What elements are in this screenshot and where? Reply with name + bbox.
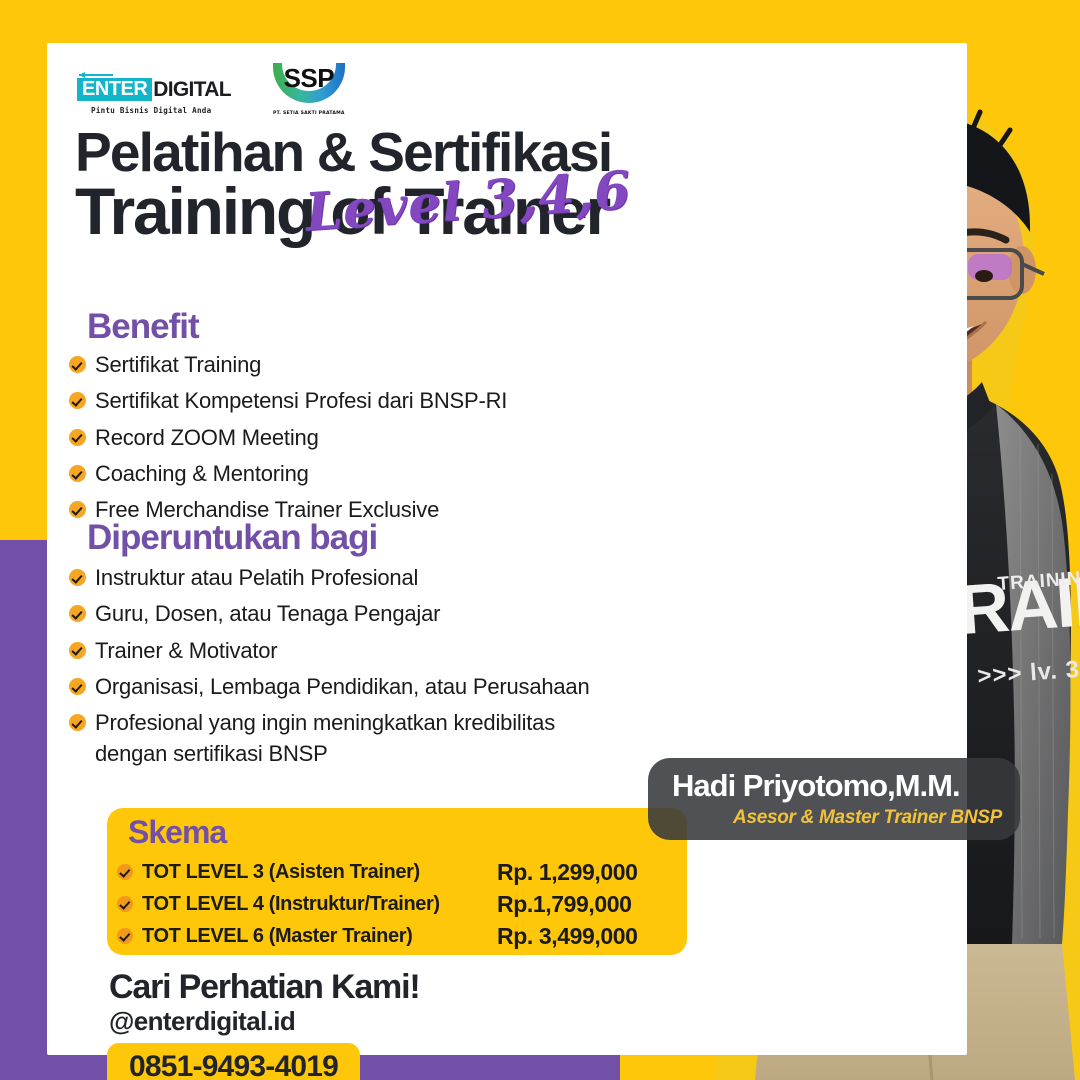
benefit-item-label: Record ZOOM Meeting	[95, 423, 319, 453]
list-item: Trainer & Motivator	[69, 636, 709, 666]
skema-level-price: Rp. 1,299,000	[497, 859, 638, 886]
benefit-item-label: Sertifikat Kompetensi Profesi dari BNSP-…	[95, 386, 507, 416]
check-circle-icon	[69, 501, 86, 518]
list-item: Guru, Dosen, atau Tenaga Pengajar	[69, 599, 709, 629]
skema-level-price: Rp.1,799,000	[497, 891, 632, 918]
poster-root: TRAINER TRAINING O >>> lv. 3 ENTER DIGIT…	[0, 0, 1080, 1080]
enter-text: ENTER	[82, 78, 147, 100]
check-circle-icon	[69, 356, 86, 373]
target-list: Instruktur atau Pelatih Profesional Guru…	[69, 563, 709, 775]
list-item: Sertifikat Training	[69, 350, 709, 380]
check-circle-icon	[69, 642, 86, 659]
skema-level-label: TOT LEVEL 3 (Asisten Trainer)	[142, 861, 497, 884]
digital-text: DIGITAL	[153, 79, 231, 100]
skema-level-price: Rp. 3,499,000	[497, 923, 638, 950]
list-item: Profesional yang ingin meningkatkan kred…	[69, 708, 709, 769]
check-circle-icon	[69, 429, 86, 446]
benefit-list: Sertifikat Training Sertifikat Kompetens…	[69, 350, 709, 532]
speaker-role: Asesor & Master Trainer BNSP	[733, 807, 1002, 829]
check-circle-icon	[69, 569, 86, 586]
target-item-continuation: dengan sertifikasi BNSP	[95, 739, 555, 769]
check-circle-icon	[69, 678, 86, 695]
check-circle-icon	[69, 392, 86, 409]
check-circle-icon	[117, 864, 133, 880]
list-item: Sertifikat Kompetensi Profesi dari BNSP-…	[69, 386, 709, 416]
benefit-heading: Benefit	[87, 307, 199, 347]
table-row: TOT LEVEL 6 (Master Trainer) Rp. 3,499,0…	[117, 920, 682, 952]
table-row: TOT LEVEL 3 (Asisten Trainer) Rp. 1,299,…	[117, 856, 682, 888]
logo-row: ENTER DIGITAL Pintu Bisnis Digital Anda …	[77, 61, 345, 115]
speaker-name: Hadi Priyotomo,M.M.	[672, 768, 960, 804]
phone-button[interactable]: 0851-9493-4019	[107, 1043, 360, 1080]
target-item-label: Profesional yang ingin meningkatkan kred…	[95, 710, 555, 735]
content-card: ENTER DIGITAL Pintu Bisnis Digital Anda …	[47, 43, 967, 1055]
ssp-subtext: PT. SETIA SAKTI PRATAMA	[273, 111, 345, 116]
list-item: Record ZOOM Meeting	[69, 423, 709, 453]
check-circle-icon	[69, 465, 86, 482]
check-circle-icon	[69, 605, 86, 622]
skema-level-label: TOT LEVEL 4 (Instruktur/Trainer)	[142, 893, 497, 916]
left-arrow-icon	[79, 72, 113, 77]
enter-digital-logo: ENTER DIGITAL Pintu Bisnis Digital Anda	[77, 78, 231, 115]
cta-title: Cari Perhatian Kami!	[109, 968, 419, 1007]
check-circle-icon	[117, 928, 133, 944]
instagram-handle[interactable]: @enterdigital.id	[109, 1006, 295, 1037]
target-item-label: Guru, Dosen, atau Tenaga Pengajar	[95, 599, 440, 629]
check-circle-icon	[69, 714, 86, 731]
check-circle-icon	[117, 896, 133, 912]
ssp-wordmark: SSP	[273, 63, 345, 94]
target-heading: Diperuntukan bagi	[87, 518, 377, 558]
list-item: Coaching & Mentoring	[69, 459, 709, 489]
skema-box: Skema TOT LEVEL 3 (Asisten Trainer) Rp. …	[107, 808, 687, 955]
skema-rows: TOT LEVEL 3 (Asisten Trainer) Rp. 1,299,…	[117, 856, 682, 952]
speaker-name-badge: Hadi Priyotomo,M.M. Asesor & Master Trai…	[648, 758, 1020, 840]
list-item: Organisasi, Lembaga Pendidikan, atau Per…	[69, 672, 709, 702]
skema-heading: Skema	[128, 814, 226, 851]
ssp-logo: SSP PT. SETIA SAKTI PRATAMA	[273, 61, 345, 115]
background-band-purple-left	[0, 540, 48, 1080]
benefit-item-label: Coaching & Mentoring	[95, 459, 309, 489]
table-row: TOT LEVEL 4 (Instruktur/Trainer) Rp.1,79…	[117, 888, 682, 920]
target-item-label: Organisasi, Lembaga Pendidikan, atau Per…	[95, 672, 590, 702]
list-item: Instruktur atau Pelatih Profesional	[69, 563, 709, 593]
skema-level-label: TOT LEVEL 6 (Master Trainer)	[142, 925, 497, 948]
target-item-label: Trainer & Motivator	[95, 636, 277, 666]
target-item-label: Instruktur atau Pelatih Profesional	[95, 563, 418, 593]
enter-digital-tagline: Pintu Bisnis Digital Anda	[91, 106, 211, 115]
benefit-item-label: Sertifikat Training	[95, 350, 261, 380]
target-item-wrapper: Profesional yang ingin meningkatkan kred…	[95, 708, 555, 769]
enter-wordmark: ENTER	[77, 78, 152, 101]
